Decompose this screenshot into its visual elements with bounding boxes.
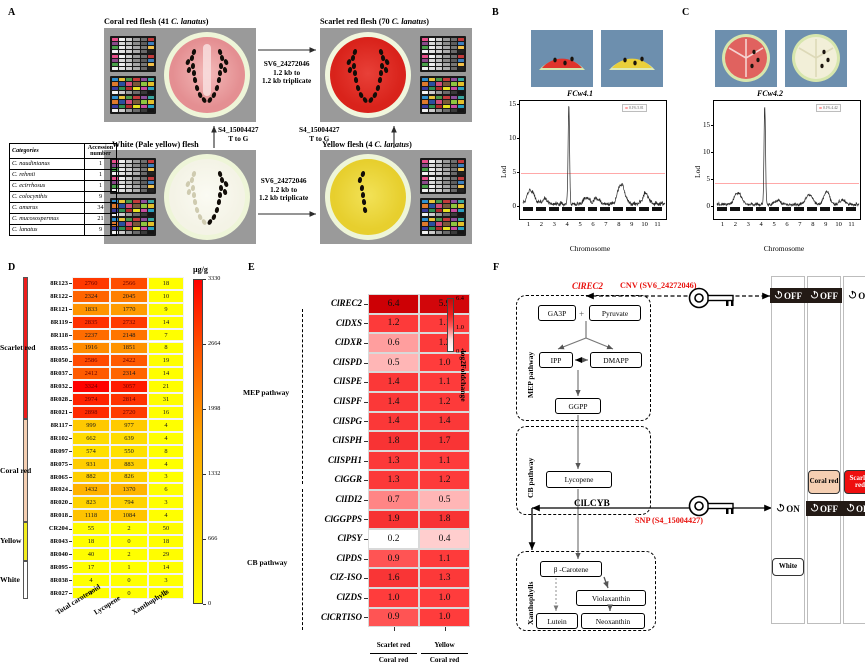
cell-category: C. ecirrhosus <box>10 180 85 191</box>
x-tick-label: 2 <box>535 221 547 228</box>
colorbar-tick-mark <box>203 409 206 410</box>
colorbar-tick-label: 0 <box>208 600 211 607</box>
watermelon-seed <box>194 85 199 91</box>
heatmap-cell: 2974 <box>72 393 110 406</box>
gene-label: ClISPE <box>304 376 362 386</box>
chromosome-bar <box>575 207 585 211</box>
plus-sign: + <box>579 309 584 319</box>
xanthophylls-label: Xanthophylls <box>526 582 535 625</box>
y-tick-label: 15 <box>694 121 710 129</box>
gene-label: ClISPG <box>304 416 362 426</box>
heatmap-cell: 1118 <box>72 509 110 522</box>
power-icon <box>810 290 819 301</box>
coral-caption-post: ) <box>206 17 209 26</box>
panel-f: F MEP pathway GA3P + Pyruvate IPP DMAPP … <box>490 258 865 637</box>
chromosome-bar <box>820 207 830 211</box>
heatmap-cell: 1.3 <box>419 568 470 588</box>
switch-on-indicator: ON <box>842 288 865 303</box>
x-tick-label: 9 <box>820 221 832 228</box>
chromosome-bar <box>613 207 623 211</box>
table-row: C. mucosospermus21 <box>10 213 117 224</box>
power-icon <box>846 503 855 514</box>
heatmap-cell: 1916 <box>72 342 110 355</box>
heatmap-cell: 1.1 <box>419 451 470 471</box>
chromosome-bar <box>536 207 546 211</box>
heatmap-cell: 1.4 <box>368 372 419 392</box>
white-flesh-photo <box>104 150 256 244</box>
colorbar-tick-mark <box>203 474 206 475</box>
heatmap-row-label: 8R119 <box>30 319 68 326</box>
x-tick-label: 11 <box>846 221 858 228</box>
x-tick-label: 10 <box>639 221 651 228</box>
heatmap-cell: 1.0 <box>368 588 419 608</box>
column-header-top: Yellow <box>413 641 476 649</box>
heatmap-cell: 2045 <box>110 290 148 303</box>
heatmap-cell: 2835 <box>72 316 110 329</box>
yellow-caption-species: C. lanatus <box>375 140 410 149</box>
gene-label: ClIDI2 <box>304 494 362 504</box>
sv-bottom-line3: 1.2 kb triplicate <box>259 194 308 203</box>
x-tick-label: 7 <box>794 221 806 228</box>
colorbar-tick-label: 1332 <box>208 470 220 477</box>
gene-clrec2-label: ClREC2 <box>572 281 603 291</box>
heatmap-cell: 1.8 <box>419 510 470 530</box>
column-tick <box>394 627 395 631</box>
heatmap-cell: 2 <box>110 548 148 561</box>
watermelon-seed <box>193 199 198 205</box>
species-accession-table: CategoriesAccessionnumberC. naudinianus1… <box>9 143 117 236</box>
node-ipp: IPP <box>539 352 573 368</box>
snp-right-line2: T to G <box>299 135 340 144</box>
panel-e-colorbar-tick-mid: 1.0 <box>456 324 464 331</box>
colorbar-tick-mark <box>203 539 206 540</box>
mep-pathway-bracket <box>302 309 303 484</box>
heatmap-row-label: 8R097 <box>30 448 68 455</box>
coral-red-photo <box>104 28 256 122</box>
heatmap-cell: 1.4 <box>368 412 419 432</box>
heatmap-cell: 9 <box>148 303 184 316</box>
chromosome-bar <box>600 207 610 211</box>
heatmap-cell: 1.8 <box>368 431 419 451</box>
watermelon-seed <box>361 199 366 205</box>
mep-pathway-label: MEP pathway <box>243 388 289 397</box>
heatmap-cell: 10 <box>148 290 184 303</box>
heatmap-cell: 883 <box>110 458 148 471</box>
cell-category: C. naudinianus <box>10 158 85 169</box>
phenotype-tag-bottom: White <box>772 558 804 576</box>
cb-pathway-label: CB pathway <box>526 458 535 498</box>
x-tick-label: 8 <box>807 221 819 228</box>
chromosome-bar <box>562 207 572 211</box>
heatmap-cell: 1084 <box>110 509 148 522</box>
heatmap-cell: 1.6 <box>368 568 419 588</box>
heatmap-row-label: 8R102 <box>30 435 68 442</box>
chromosome-bar <box>730 207 740 211</box>
group-label: White <box>0 575 19 584</box>
heatmap-row-label: 8R095 <box>30 564 68 571</box>
heatmap-cell: 18 <box>148 277 184 290</box>
panel-d-unit-label: µg/g <box>193 265 208 274</box>
heatmap-row-label: 8R075 <box>30 461 68 468</box>
heatmap-cell: 999 <box>72 419 110 432</box>
scarlet-caption-species: C. lanatus <box>392 17 427 26</box>
watermelon-seed <box>194 207 199 213</box>
panel-e: E ClREC26.45.9ClDXS1.21.1ClDXR0.61.2ClIS… <box>240 258 490 637</box>
heatmap-cell: 2732 <box>110 316 148 329</box>
heatmap-cell: 2314 <box>110 367 148 380</box>
table-row: C. lanatus9 <box>10 224 117 235</box>
colorbar-tick-mark <box>203 344 206 345</box>
cell-accession-count: 1 <box>85 158 117 169</box>
watermelon-seed <box>354 77 359 83</box>
arrow-label-sv-bottom: SV6_24272046 1.2 kb to 1.2 kb triplicate <box>259 177 308 203</box>
panel-b-red-wedge-photo <box>531 30 593 87</box>
heatmap-cell: 1.0 <box>419 608 470 628</box>
heatmap-cell: 40 <box>72 548 110 561</box>
switch-state-label: ON <box>786 504 800 514</box>
cnv-label: CNV (SV6_24272046) <box>620 281 697 290</box>
y-tick-label: 0 <box>500 202 516 210</box>
heatmap-cell: 0.9 <box>368 608 419 628</box>
yellow-caption-post: ) <box>409 140 412 149</box>
switch-off-indicator: OFF <box>842 501 865 516</box>
color-calibration-chart <box>420 36 466 72</box>
heatmap-cell: 574 <box>72 445 110 458</box>
heatmap-cell: 3 <box>148 496 184 509</box>
heatmap-row-label: 8R020 <box>30 499 68 506</box>
watermelon-seed <box>383 67 388 73</box>
node-neoxanthin: Neoxanthin <box>581 613 645 629</box>
lod-score-trace <box>714 101 862 221</box>
y-tick-label: 10 <box>500 134 516 142</box>
heatmap-cell: 1.4 <box>419 412 470 432</box>
watermelon-cross-section <box>325 32 411 118</box>
colorbar-tick-label: 1998 <box>208 405 220 412</box>
cb-pathway-bracket <box>302 489 303 630</box>
heatmap-cell: 2814 <box>110 393 148 406</box>
group-color-bar <box>23 561 28 600</box>
coral-red-caption: Coral red flesh (41 C. lanatus) <box>104 17 209 26</box>
x-tick-label: 1 <box>716 221 728 228</box>
power-icon <box>776 503 785 514</box>
heatmap-cell: 977 <box>110 419 148 432</box>
heatmap-cell: 55 <box>72 522 110 535</box>
heatmap-cell: 2148 <box>110 329 148 342</box>
gene-label: ClPDS <box>304 553 362 563</box>
heatmap-cell: 19 <box>148 354 184 367</box>
heatmap-cell: 2324 <box>72 290 110 303</box>
chromosome-bar <box>626 207 636 211</box>
heatmap-cell: 1.2 <box>419 470 470 490</box>
node-beta-carotene: β -Carotene <box>540 561 602 577</box>
white-flesh-caption: White (Pale yellow) flesh <box>112 140 199 149</box>
x-tick-label: 11 <box>652 221 664 228</box>
scarlet-caption-pre: Scarlet red flesh (70 <box>320 17 392 26</box>
gene-label: ClISPH <box>304 435 362 445</box>
heatmap-cell: 17 <box>72 561 110 574</box>
group-label: Coral red <box>0 466 19 475</box>
node-ggpp: GGPP <box>555 398 601 414</box>
gene-label: ClISPF <box>304 396 362 406</box>
key-icon-cnv <box>688 286 744 310</box>
y-tick-mark <box>517 172 520 173</box>
heatmap-cell: 0.9 <box>368 549 419 569</box>
heatmap-cell: 0 <box>110 535 148 548</box>
gene-label: ClREC2 <box>304 298 362 308</box>
cell-accession-count: 1 <box>85 180 117 191</box>
heatmap-cell: 662 <box>72 432 110 445</box>
watermelon-seed <box>352 63 356 69</box>
heatmap-cell: 826 <box>110 471 148 484</box>
column-header-divider <box>370 653 417 654</box>
heatmap-cell: 4 <box>148 509 184 522</box>
chromosome-bar <box>652 207 662 211</box>
heatmap-cell: 0.7 <box>368 490 419 510</box>
gene-label: ClISPH1 <box>304 455 362 465</box>
watermelon-cross-section <box>164 32 250 118</box>
heatmap-row-label: 8R027 <box>30 590 68 597</box>
heatmap-cell: 794 <box>110 496 148 509</box>
x-tick-label: 4 <box>755 221 767 228</box>
heatmap-cell: 4 <box>148 419 184 432</box>
y-tick-label: 10 <box>694 148 710 156</box>
cell-accession-count: 9 <box>85 224 117 235</box>
watermelon-seed <box>192 192 196 198</box>
watermelon-seed <box>218 70 222 76</box>
heatmap-cell: 6 <box>148 483 184 496</box>
watermelon-cross-section <box>325 154 411 240</box>
heatmap-row-label: 8R018 <box>30 512 68 519</box>
scarlet-caption-post: ) <box>426 17 429 26</box>
heatmap-cell: 2566 <box>110 277 148 290</box>
heatmap-cell: 6.4 <box>368 294 419 314</box>
heatmap-cell: 1.7 <box>419 431 470 451</box>
table-row: C. ecirrhosus1 <box>10 180 117 191</box>
chromosome-bar <box>846 207 856 211</box>
switch-off-indicator: OFF <box>806 501 842 516</box>
arrow-label-snp-left: S4_15004427 T to G <box>218 126 259 143</box>
cell-category: C. rehmii <box>10 169 85 180</box>
panel-e-letter: E <box>248 262 255 273</box>
watermelon-seed <box>359 185 363 191</box>
panel-b-x-axis-label: Chromosome <box>495 244 685 253</box>
x-tick-label: 2 <box>729 221 741 228</box>
panel-b-plot: 0.1% 5.01 <box>519 100 667 220</box>
cell-accession-count: 9 <box>85 191 117 202</box>
heatmap-row-label: 8R050 <box>30 357 68 364</box>
phenotype-tag-mid: Scarlet red <box>844 470 865 494</box>
colorbar-tick-label: 666 <box>208 535 217 542</box>
group-label: Scarlet red <box>0 343 19 352</box>
heatmap-cell: 1.1 <box>419 549 470 569</box>
heatmap-cell: 1770 <box>110 303 148 316</box>
table-header-accession-number: Accessionnumber <box>85 144 117 159</box>
gene-label: ClDXR <box>304 337 362 347</box>
heatmap-cell: 639 <box>110 432 148 445</box>
panel-c-x-axis-label: Chromosome <box>689 244 865 253</box>
chromosome-bar <box>756 207 766 211</box>
heatmap-cell: 1432 <box>72 483 110 496</box>
chromosome-bar <box>717 207 727 211</box>
heatmap-cell: 2760 <box>72 277 110 290</box>
panel-e-colorbar-tick-max: 6.4 <box>456 295 464 302</box>
heatmap-row-label: 8R118 <box>30 332 68 339</box>
panel-d-colorbar <box>193 279 203 604</box>
switch-off-indicator: OFF <box>806 288 842 303</box>
heatmap-cell: 29 <box>148 548 184 561</box>
heatmap-cell: 1370 <box>110 483 148 496</box>
heatmap-cell: 2412 <box>72 367 110 380</box>
heatmap-cell: 1.3 <box>368 451 419 471</box>
heatmap-cell: 3 <box>148 574 184 587</box>
chromosome-bar <box>782 207 792 211</box>
panel-e-colorbar-title: -log2Foldchange <box>459 348 468 402</box>
gene-label: ClZ-ISO <box>304 572 362 582</box>
heatmap-cell: 4 <box>148 458 184 471</box>
table-row: C. colocynthis9 <box>10 191 117 202</box>
switch-state-label: OFF <box>856 504 865 514</box>
watermelon-seed <box>379 70 383 76</box>
heatmap-row-label: CR204 <box>30 525 68 532</box>
chromosome-bar <box>743 207 753 211</box>
node-lycopene: Lycopene <box>546 471 612 488</box>
heatmap-row-label: 8R024 <box>30 486 68 493</box>
heatmap-cell: 0.5 <box>368 353 419 373</box>
switch-state-label: OFF <box>820 504 838 514</box>
table-row: C. amarus34 <box>10 202 117 213</box>
heatmap-cell: 3324 <box>72 380 110 393</box>
gene-label: ClISPD <box>304 357 362 367</box>
y-tick-label: 5 <box>500 168 516 176</box>
color-calibration-chart <box>420 198 466 236</box>
y-tick-label: 5 <box>694 175 710 183</box>
panel-a: A Coral red flesh (41 C. lanatus) Scarle… <box>0 0 482 258</box>
panel-b: B FCw4.1 0.1% 5.01 Lod Chromosome 051015… <box>485 0 675 258</box>
scarlet-red-caption: Scarlet red flesh (70 C. lanatus) <box>320 17 429 26</box>
phenotype-tag-mid: Coral red <box>808 470 840 494</box>
heatmap-row-label: 8R037 <box>30 370 68 377</box>
heatmap-cell: 1.0 <box>419 588 470 608</box>
colorbar-tick-mark <box>203 604 206 605</box>
heatmap-row-label: 8R038 <box>30 577 68 584</box>
heatmap-cell: 550 <box>110 445 148 458</box>
heatmap-cell: 1.2 <box>368 314 419 334</box>
y-tick-mark <box>517 138 520 139</box>
panel-c-plot: 0.1% 4.42 <box>713 100 861 220</box>
cell-category: C. amarus <box>10 202 85 213</box>
panel-e-colorbar <box>447 298 454 352</box>
lod-score-trace <box>520 101 668 221</box>
watermelon-cross-section <box>164 154 250 240</box>
phenotype-column <box>843 276 865 624</box>
panel-f-letter: F <box>493 262 499 273</box>
heatmap-cell: 2237 <box>72 329 110 342</box>
panel-a-letter: A <box>8 7 15 18</box>
watermelon-seed <box>353 70 357 76</box>
node-ga3p: GA3P <box>538 305 576 321</box>
heatmap-cell: 2 <box>110 522 148 535</box>
heatmap-cell: 1851 <box>110 342 148 355</box>
panel-e-colorbar-tick-min: 0.2 <box>456 348 464 355</box>
y-tick-mark <box>517 104 520 105</box>
colorbar-tick-label: 3330 <box>208 275 220 282</box>
x-tick-label: 6 <box>587 221 599 228</box>
y-tick-mark <box>711 206 714 207</box>
heatmap-row-label: 8R032 <box>30 383 68 390</box>
x-tick-label: 3 <box>548 221 560 228</box>
cell-accession-count: 34 <box>85 202 117 213</box>
watermelon-seed <box>222 189 227 195</box>
heatmap-row-label: 8R040 <box>30 551 68 558</box>
heatmap-cell: 0.5 <box>419 490 470 510</box>
watermelon-seed <box>191 185 195 191</box>
heatmap-cell: 14 <box>148 367 184 380</box>
heatmap-cell: 0.4 <box>419 529 470 549</box>
heatmap-row-label: 8R121 <box>30 306 68 313</box>
heatmap-cell: 14 <box>148 316 184 329</box>
chromosome-bar <box>769 207 779 211</box>
x-tick-label: 3 <box>742 221 754 228</box>
gene-cllcyb-label: ClLCYB <box>574 499 610 509</box>
group-label: Yellow <box>0 536 19 545</box>
column-tick <box>445 627 446 631</box>
y-tick-mark <box>711 179 714 180</box>
chromosome-bar <box>588 207 598 211</box>
heatmap-cell: 8 <box>148 342 184 355</box>
heatmap-cell: 8 <box>148 445 184 458</box>
heatmap-cell: 931 <box>72 458 110 471</box>
heatmap-cell: 21 <box>148 380 184 393</box>
x-tick-label: 7 <box>600 221 612 228</box>
color-calibration-chart <box>110 36 156 72</box>
switch-on-indicator: ON <box>770 501 806 516</box>
y-tick-mark <box>517 206 520 207</box>
power-icon <box>774 290 783 301</box>
heatmap-cell: 1.4 <box>368 392 419 412</box>
y-tick-mark <box>711 152 714 153</box>
node-pyruvate: Pyruvate <box>589 305 641 321</box>
heatmap-cell: 14 <box>148 561 184 574</box>
key-icon-snp <box>688 494 744 518</box>
heatmap-row-label: 8R021 <box>30 409 68 416</box>
panel-c-letter: C <box>682 7 689 18</box>
x-tick-label: 5 <box>574 221 586 228</box>
panel-d: D µg/g 8R12327602566188R12223242045108R1… <box>0 258 240 637</box>
yellow-flesh-photo <box>320 150 472 244</box>
watermelon-seed <box>191 63 195 69</box>
scarlet-red-photo <box>320 28 472 122</box>
coral-caption-species: C. lanatus <box>171 17 206 26</box>
arrow-label-snp-right: S4_15004427 T to G <box>299 126 340 143</box>
heatmap-cell: 31 <box>148 393 184 406</box>
heatmap-cell: 4 <box>148 432 184 445</box>
y-tick-label: 0 <box>694 202 710 210</box>
cell-category: C. lanatus <box>10 224 85 235</box>
x-tick-label: 9 <box>626 221 638 228</box>
heatmap-row-label: 8R028 <box>30 396 68 403</box>
mep-pathway-label: MEP pathway <box>526 352 535 398</box>
y-tick-mark <box>711 125 714 126</box>
switch-state-label: ON <box>858 291 865 301</box>
phenotype-column <box>807 276 841 624</box>
chromosome-bar <box>807 207 817 211</box>
cell-category: C. mucosospermus <box>10 213 85 224</box>
group-color-bar <box>23 522 28 561</box>
color-calibration-chart <box>110 76 156 114</box>
x-tick-label: 5 <box>768 221 780 228</box>
arrow-label-sv-top: SV6_24272046 1.2 kb to 1.2 kb triplicate <box>262 60 311 86</box>
heatmap-cell: 16 <box>148 406 184 419</box>
